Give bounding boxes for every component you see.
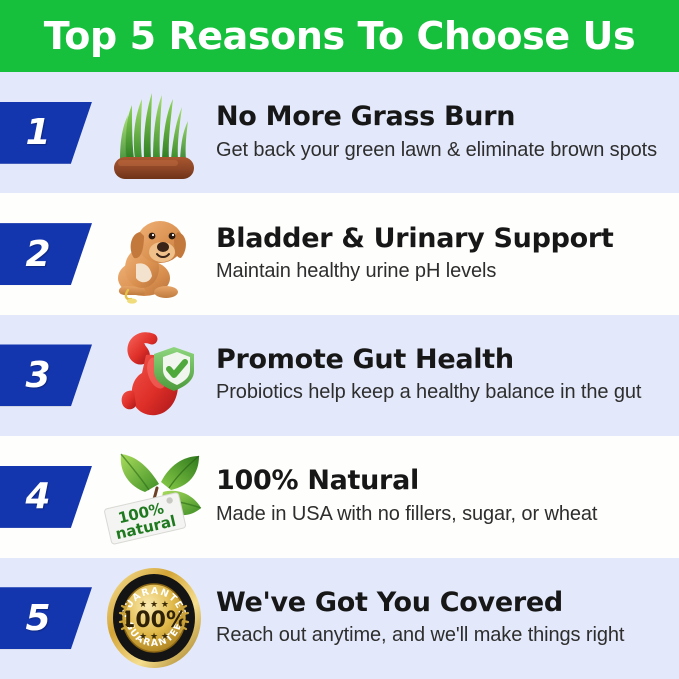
reason-text-5: We've Got You Covered Reach out anytime,…	[210, 588, 679, 649]
reason-description: Probiotics help keep a healthy balance i…	[216, 380, 669, 406]
reason-description: Get back your green lawn & eliminate bro…	[216, 138, 669, 164]
badge-number-label: 4	[0, 466, 92, 528]
reason-row-4: 4	[0, 436, 679, 557]
reason-title: We've Got You Covered	[216, 588, 669, 618]
seal-center-label: 100%	[120, 608, 188, 633]
reason-title: Promote Gut Health	[216, 345, 669, 375]
svg-text:★ ★ ★: ★ ★ ★	[139, 632, 169, 642]
puppy-icon	[98, 198, 210, 310]
reason-title: Bladder & Urinary Support	[216, 224, 669, 254]
badge-number-label: 5	[0, 587, 92, 649]
reasons-list: 1	[0, 72, 679, 679]
guarantee-seal-icon: GUARANTEE GUARANTEE ★ ★ ★ ★ ★ ★ 100%	[98, 562, 210, 674]
reason-description: Made in USA with no fillers, sugar, or w…	[216, 502, 669, 528]
reason-text-4: 100% Natural Made in USA with no fillers…	[210, 466, 679, 527]
reason-title: No More Grass Burn	[216, 102, 669, 132]
grass-patch-icon	[98, 77, 210, 189]
leaf-tag-icon: 100% natural	[98, 441, 210, 553]
reason-text-1: No More Grass Burn Get back your green l…	[210, 102, 679, 163]
reason-title: 100% Natural	[216, 466, 669, 496]
number-badge-2: 2	[0, 223, 92, 285]
infographic-root: Top 5 Reasons To Choose Us 1	[0, 0, 679, 679]
number-badge-5: 5	[0, 587, 92, 649]
badge-number-label: 2	[0, 223, 92, 285]
stomach-shield-icon	[98, 319, 210, 431]
number-badge-3: 3	[0, 344, 92, 406]
reason-description: Maintain healthy urine pH levels	[216, 259, 669, 285]
reason-description: Reach out anytime, and we'll make things…	[216, 623, 669, 649]
reason-text-2: Bladder & Urinary Support Maintain healt…	[210, 224, 679, 285]
page-title: Top 5 Reasons To Choose Us	[44, 17, 635, 55]
number-badge-1: 1	[0, 102, 92, 164]
badge-number-label: 3	[0, 344, 92, 406]
reason-row-5: 5	[0, 558, 679, 679]
header-band: Top 5 Reasons To Choose Us	[0, 0, 679, 72]
reason-row-3: 3	[0, 315, 679, 436]
reason-row-2: 2	[0, 193, 679, 314]
reason-row-1: 1	[0, 72, 679, 193]
number-badge-4: 4	[0, 466, 92, 528]
reason-text-3: Promote Gut Health Probiotics help keep …	[210, 345, 679, 406]
badge-number-label: 1	[0, 102, 92, 164]
